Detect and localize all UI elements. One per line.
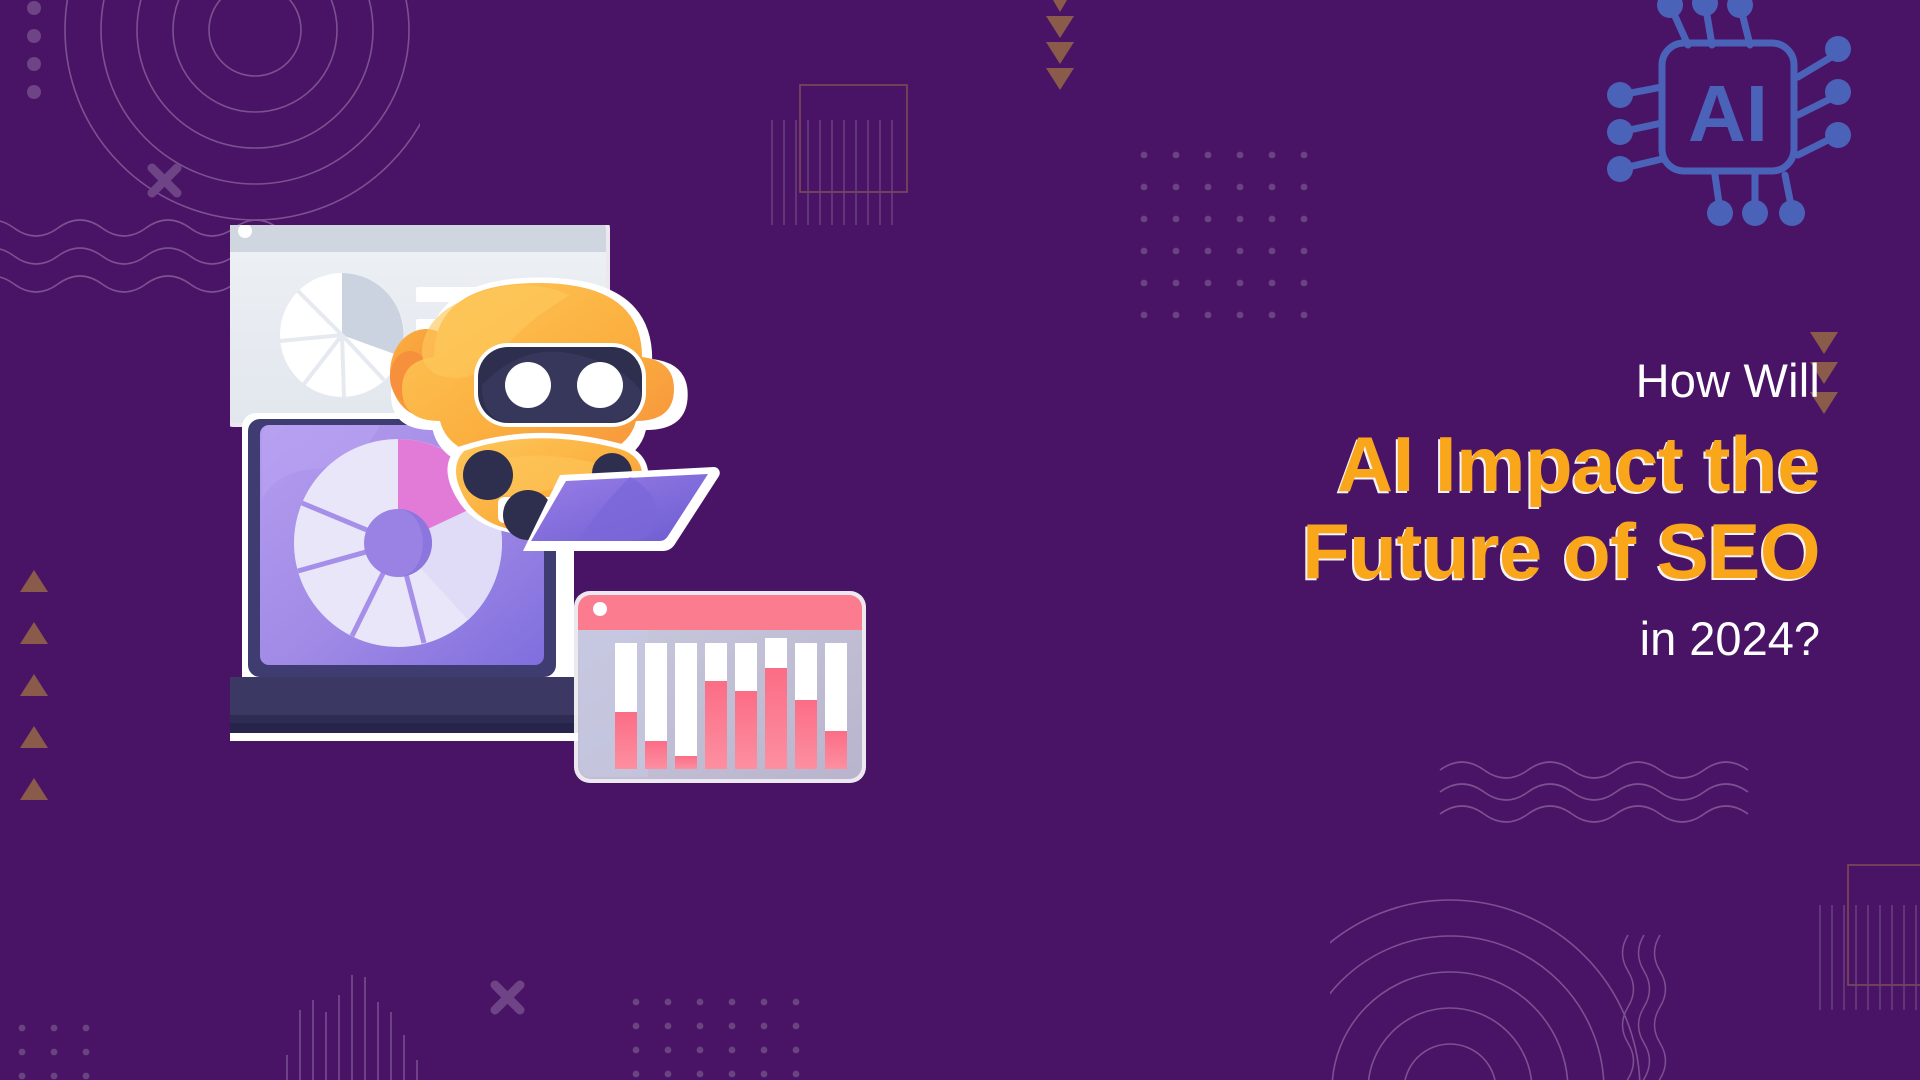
x-mark-left (152, 168, 177, 193)
bar-window-dot (593, 602, 607, 616)
headline-main: AI Impact the Future of SEO (1180, 421, 1820, 596)
vertical-lines-top (772, 120, 892, 225)
bar-3 (675, 643, 697, 769)
robot-node-a (463, 450, 513, 500)
concentric-arcs-bottom (1260, 900, 1640, 1080)
bar-chart-window (574, 591, 866, 783)
bar-5 (735, 643, 757, 769)
bar-6 (765, 638, 787, 769)
headline-line-1: AI Impact the (1180, 421, 1820, 508)
headline-block: How Will AI Impact the Future of SEO in … (1180, 355, 1820, 665)
robot-eye-right (577, 362, 623, 408)
bar-8 (825, 643, 847, 769)
dot-grid-top (1141, 152, 1308, 319)
dot-grid-bottom (633, 999, 800, 1078)
square-outline-top (800, 85, 907, 192)
triangles-up-left (20, 570, 48, 800)
poster-canvas: AI (0, 0, 1920, 1080)
triangles-down-top (1046, 0, 1074, 90)
dot-grid-bottomleft (19, 1025, 90, 1080)
ai-chip-label: AI (1688, 69, 1768, 158)
vertical-wavy-right (1623, 935, 1666, 1080)
pie-chart-small (280, 273, 404, 397)
ai-chip-icon: AI (1600, 0, 1865, 245)
headline-kicker: How Will (1180, 355, 1820, 407)
wave-lines-right (1440, 762, 1748, 822)
robot-eye-left (505, 362, 551, 408)
dots-column-topleft (27, 1, 41, 99)
spike-lines-bottom (287, 975, 417, 1080)
bar-7 (795, 643, 817, 769)
headline-line-2: Future of SEO (1180, 508, 1820, 595)
ai-seo-analytics-illustration (230, 225, 930, 865)
vertical-lines-bottomright (1820, 905, 1916, 1010)
concentric-arcs-topleft (65, 0, 445, 220)
square-outline-bottomright (1848, 865, 1920, 985)
headline-tail: in 2024? (1180, 613, 1820, 665)
bar-2 (645, 643, 667, 769)
bar-1 (615, 643, 637, 769)
x-mark-bottom (495, 985, 520, 1010)
bar-4 (705, 643, 727, 769)
